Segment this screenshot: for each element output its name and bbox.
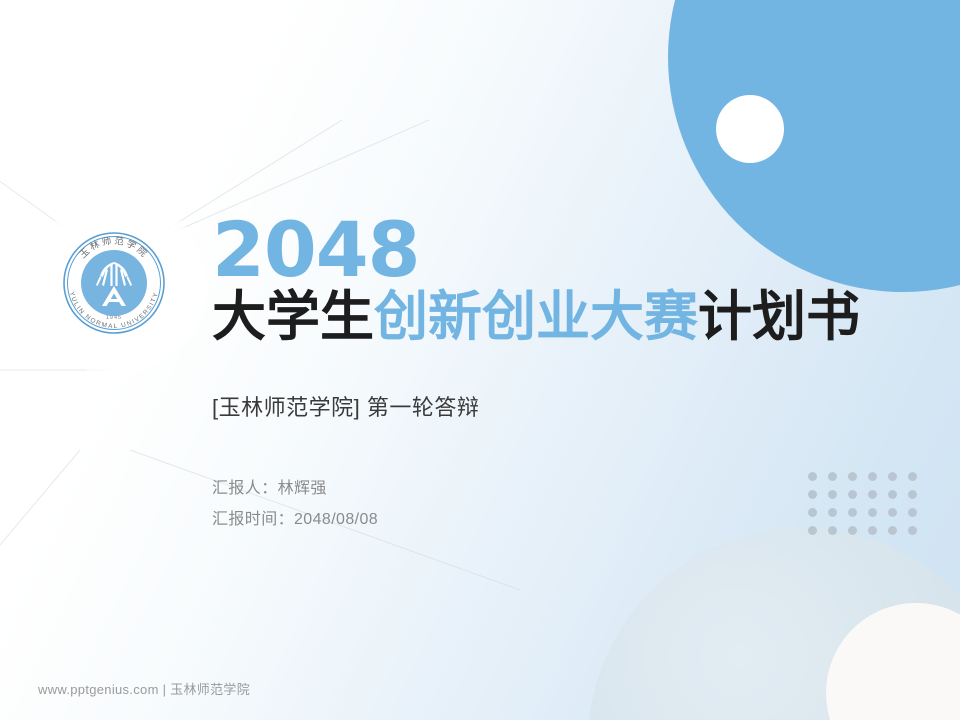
- headline-lead: 大学生: [212, 287, 374, 347]
- date-line: 汇报时间：2048/08/08: [212, 505, 912, 529]
- headline-accent: 创新创业大赛: [374, 287, 698, 347]
- university-logo-icon: 玉林师范学院 YULIN NORMAL UNIVERSITY 1945: [55, 224, 173, 342]
- year-number: 2048: [212, 214, 912, 287]
- presentation-meta: 汇报人：林辉强 汇报时间：2048/08/08: [212, 474, 912, 529]
- decor-white-circle-top-right: [716, 95, 784, 163]
- decor-white-circle-bottom-right: [826, 603, 960, 720]
- logo-founded-year: 1945: [106, 315, 122, 321]
- presenter-line: 汇报人：林辉强: [212, 474, 912, 498]
- title-slide: 玉林师范学院 YULIN NORMAL UNIVERSITY 1945 2048…: [0, 0, 960, 720]
- title-content: 2048 大学生创新创业大赛计划书 [玉林师范学院] 第一轮答辩 汇报人：林辉强…: [212, 214, 912, 536]
- page-title: 大学生创新创业大赛计划书: [212, 289, 912, 346]
- subtitle: [玉林师范学院] 第一轮答辩: [212, 390, 912, 422]
- footer-credit: www.pptgenius.com | 玉林师范学院: [38, 679, 250, 698]
- decor-pale-circle-bottom-right: [588, 528, 960, 720]
- headline-tail: 计划书: [698, 287, 860, 347]
